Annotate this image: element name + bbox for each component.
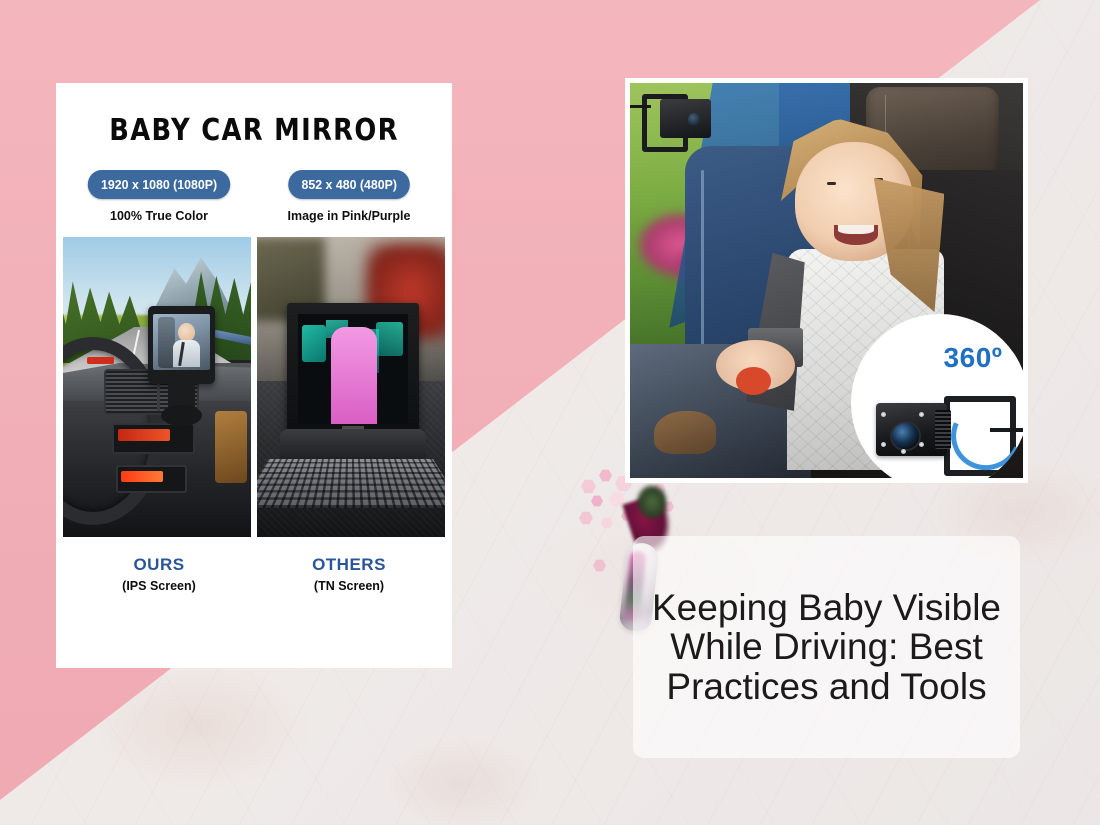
camera-ir-led xyxy=(919,412,924,417)
polish-spill-green xyxy=(637,485,667,519)
camera-body xyxy=(660,99,712,139)
child-shoe xyxy=(654,411,717,454)
camera-ir-led xyxy=(919,442,924,447)
product-comparison-card: BABY CAR MIRROR 1920 x 1080 (1080P) 100%… xyxy=(56,83,452,668)
poster-canvas: BABY CAR MIRROR 1920 x 1080 (1080P) 100%… xyxy=(0,0,1100,825)
comparison-label-row: OURS (IPS Screen) OTHERS (TN Screen) xyxy=(56,555,452,593)
resolution-pill-ours: 1920 x 1080 (1080P) xyxy=(88,170,231,199)
tn-monitor-screen xyxy=(298,314,409,425)
badge-360-label: 360º xyxy=(944,342,1003,374)
photo-ips-dashboard xyxy=(63,237,251,537)
spec-pill-row: 1920 x 1080 (1080P) 100% True Color 852 … xyxy=(56,170,452,223)
baby-monitor-device xyxy=(148,306,216,384)
monitor-baby-head xyxy=(178,323,195,342)
glovebox-trim xyxy=(215,411,247,483)
dash-red-accent xyxy=(87,357,113,364)
spec-column-others: 852 x 480 (480P) Image in Pink/Purple xyxy=(254,170,444,223)
hero-photo-baby-in-car-seat: 360º xyxy=(630,83,1023,478)
monitor-screen-ips xyxy=(153,314,210,370)
resolution-pill-others: 852 x 480 (480P) xyxy=(288,170,410,199)
confetti-hex xyxy=(601,517,613,529)
climate-display xyxy=(121,471,162,482)
radio-display xyxy=(118,429,171,441)
child-eye-left xyxy=(827,182,836,185)
monitor-seat-shape xyxy=(158,317,175,368)
badge-camera-lens xyxy=(890,421,921,452)
confetti-hex xyxy=(591,495,603,507)
camera-module-overlay xyxy=(636,89,728,149)
label-block-ours: OURS (IPS Screen) xyxy=(64,555,254,593)
monitor-suction-base xyxy=(161,405,202,426)
camera-mount-arm xyxy=(630,105,650,108)
color-note-others: Image in Pink/Purple xyxy=(288,209,411,223)
tn-artifact-right xyxy=(376,322,403,355)
article-title: Keeping Baby Visible While Driving: Best… xyxy=(633,588,1020,707)
label-others: OTHERS xyxy=(254,555,444,575)
confetti-hex xyxy=(599,469,612,482)
spec-column-ours: 1920 x 1080 (1080P) 100% True Color xyxy=(64,170,254,223)
article-title-card: Keeping Baby Visible While Driving: Best… xyxy=(633,536,1020,758)
confetti-hex xyxy=(579,511,593,525)
color-note-ours: 100% True Color xyxy=(110,209,208,223)
tn-artifact-left xyxy=(302,325,326,363)
label-sub-others: (TN Screen) xyxy=(254,579,444,593)
tn-monitor-device xyxy=(287,303,419,435)
product-card-title: BABY CAR MIRROR xyxy=(84,113,425,148)
comparison-photo-row xyxy=(56,237,452,537)
photo-tn-dashboard xyxy=(257,237,445,537)
confetti-hex xyxy=(581,479,596,494)
label-block-others: OTHERS (TN Screen) xyxy=(254,555,444,593)
child-smile xyxy=(834,225,877,245)
confetti-hex xyxy=(593,559,606,572)
label-ours: OURS xyxy=(64,555,254,575)
label-sub-ours: (IPS Screen) xyxy=(64,579,254,593)
badge-camera-vent xyxy=(935,410,951,449)
tn-pink-seatback xyxy=(331,327,377,425)
tn-dash-mat xyxy=(257,459,445,508)
badge-camera-arm xyxy=(990,428,1023,432)
badge-360-degree: 360º xyxy=(851,314,1023,478)
